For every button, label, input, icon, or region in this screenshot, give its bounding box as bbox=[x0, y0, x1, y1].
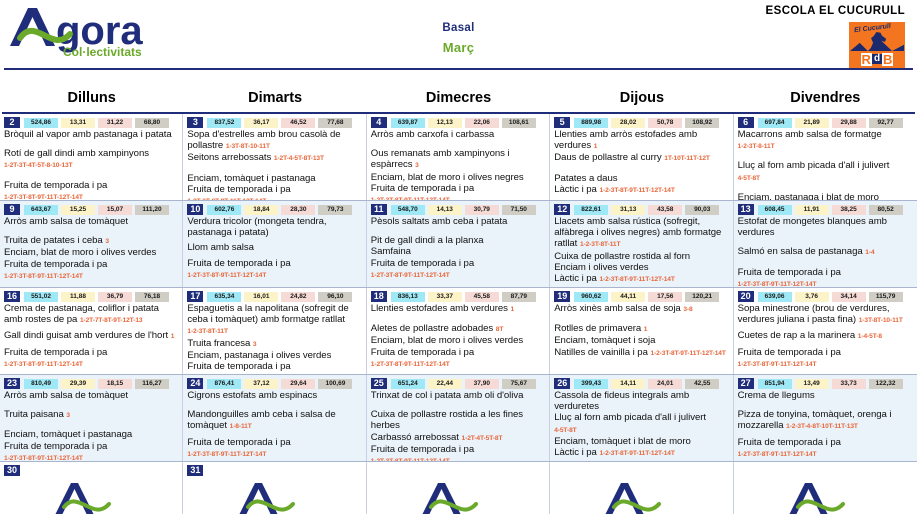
allergen-codes: 1 bbox=[644, 326, 648, 333]
dish-spacer bbox=[371, 315, 545, 323]
day-cell-4[interactable]: 4639,8712,1322,06108,61Arròs amb carxofa… bbox=[367, 114, 550, 200]
day-cell-31[interactable]: 31 bbox=[183, 462, 366, 514]
nutrition-value-2: 18,15 bbox=[98, 379, 132, 389]
nutrition-badges: 551,0211,8836,7976,18 bbox=[24, 292, 169, 302]
day-cell-header: 12822,6131,1343,5890,03 bbox=[554, 204, 728, 215]
nutrition-value-3: 96,10 bbox=[318, 292, 352, 302]
school-name: ESCOLA EL CUCURULL bbox=[766, 5, 905, 17]
school-logo-b: B bbox=[882, 53, 893, 66]
nutrition-badges: 697,8421,8929,8892,77 bbox=[758, 118, 903, 128]
day-cell-30[interactable]: 30 bbox=[0, 462, 183, 514]
menu-dish: Truita de patates i ceba 3 bbox=[4, 235, 178, 247]
day-cell-header: 16551,0211,8836,7976,18 bbox=[4, 291, 178, 302]
dish-text: Cuetes de rap a la marinera bbox=[738, 330, 856, 341]
dish-text: Enciam i olives verdes bbox=[554, 262, 648, 273]
menu-dish: Sopa minestrone (brou de verdures, verdu… bbox=[738, 303, 913, 326]
nutrition-badges: 836,1333,3745,5887,79 bbox=[391, 292, 536, 302]
menu-dish: Fruita de temporada i pa 1-2T-3T-8T-9T-1… bbox=[738, 267, 913, 287]
dish-text: Macarrons amb salsa de formatge bbox=[738, 129, 882, 140]
nutrition-value-0: 651,24 bbox=[391, 379, 425, 389]
menu-dish: Arròs amb salsa de tomàquet bbox=[4, 216, 178, 227]
nutrition-value-3: 79,73 bbox=[318, 205, 352, 215]
nutrition-value-2: 38,25 bbox=[832, 205, 866, 215]
menu-dish: Lluç al forn amb picada d'all i julivert… bbox=[738, 160, 913, 183]
nutrition-value-2: 24,82 bbox=[281, 292, 315, 302]
menu-dish: Fruita de temporada i pa 1-2T-3T-8T-9T-1… bbox=[187, 184, 361, 200]
dish-text: Fruita de temporada i pa bbox=[187, 184, 290, 195]
allergen-codes: 1 bbox=[511, 306, 515, 313]
nutrition-badges: 608,4511,9138,2580,52 bbox=[758, 205, 903, 215]
allergen-codes: 1-2-3T-8T-9T-11T-12T-14T bbox=[599, 187, 674, 194]
allergen-codes: 3 bbox=[415, 162, 419, 169]
menu-dish: Macarrons amb salsa de formatge 1-2-3T-8… bbox=[738, 129, 913, 152]
nutrition-value-2: 43,58 bbox=[648, 205, 682, 215]
dish-spacer bbox=[4, 227, 178, 235]
dish-text: Fruita de temporada i pa bbox=[4, 180, 107, 191]
nutrition-value-0: 697,84 bbox=[758, 118, 792, 128]
day-cell-header: 20639,063,7634,14115,79 bbox=[738, 291, 913, 302]
nutrition-value-2: 33,73 bbox=[832, 379, 866, 389]
dish-spacer bbox=[187, 401, 361, 409]
nutrition-badges: 524,8613,3131,2268,80 bbox=[24, 118, 169, 128]
allergen-codes: 1-2-3T-4-8T-10T-11T-13T bbox=[786, 423, 858, 430]
calendar-week: 23810,4929,3918,15116,27Arròs amb salsa … bbox=[0, 375, 917, 462]
dish-text: Enciam, tomàquet i pastanaga bbox=[4, 429, 132, 440]
allergen-codes: 1-2T-3T-8T-9T-11T-12T-14T bbox=[738, 281, 817, 287]
day-number: 11 bbox=[371, 204, 387, 215]
calendar-grid: 2524,8613,3131,2268,80Bròquil al vapor a… bbox=[0, 114, 917, 514]
menu-dish: Arròs amb carxofa i carbassa bbox=[371, 129, 545, 140]
nutrition-value-3: 77,68 bbox=[318, 118, 352, 128]
dish-spacer bbox=[738, 152, 913, 160]
day-number: 17 bbox=[187, 291, 203, 302]
day-cell-10[interactable]: 10602,7618,8428,3079,73Verdura tricolor … bbox=[183, 201, 366, 287]
menu-dish: Làctic i pa 1-2-3T-8T-9T-11T-12T-14T bbox=[554, 273, 728, 285]
school-logo-rdb: RdB bbox=[850, 51, 904, 67]
allergen-codes: 1-2T-3T-4T-5T-8-10-13T bbox=[4, 162, 73, 169]
nutrition-badges: 876,4137,1229,64100,69 bbox=[207, 379, 352, 389]
nutrition-value-1: 11,91 bbox=[795, 205, 829, 215]
agora-footer-logo bbox=[49, 478, 133, 514]
nutrition-value-0: 889,98 bbox=[574, 118, 608, 128]
day-cell-19[interactable]: 19960,6244,1117,56120,21Arròs xinès amb … bbox=[550, 288, 733, 374]
nutrition-value-1: 21,89 bbox=[795, 118, 829, 128]
dish-text: Gall dindi guisat amb verdures de l'hort bbox=[4, 330, 168, 341]
dish-text: Truita paisana bbox=[4, 409, 64, 420]
day-cell-header: 9643,6715,2515,07111,20 bbox=[4, 204, 178, 215]
menu-dish: Cassola de fideus integrals amb verduret… bbox=[554, 390, 728, 412]
nutrition-value-3: 92,77 bbox=[869, 118, 903, 128]
dish-text: Aletes de pollastre adobades bbox=[371, 323, 493, 334]
menu-dish: Fruita de temporada i pa 1-2T-3T-8T-9T-1… bbox=[738, 347, 913, 370]
allergen-codes: 1-2-3T-8T-9T-11T-12T-14T bbox=[650, 350, 725, 357]
nutrition-value-3: 80,52 bbox=[869, 205, 903, 215]
day-cell-6[interactable]: 6697,8421,8929,8892,77Macarrons amb sals… bbox=[734, 114, 917, 200]
nutrition-value-0: 810,49 bbox=[24, 379, 58, 389]
menu-dish: Enciam, pastanaga i olives verdes bbox=[187, 350, 361, 361]
nutrition-value-1: 13,49 bbox=[795, 379, 829, 389]
allergen-codes: 1T-10T-11T-12T bbox=[664, 155, 710, 162]
menu-dish: Daus de pollastre al curry 1T-10T-11T-12… bbox=[554, 152, 728, 164]
menu-dish: Rotlles de primavera 1 bbox=[554, 323, 728, 335]
menu-dish: Fruita de temporada i pa 1-2T-3T-8T-9T-1… bbox=[187, 361, 361, 374]
dish-text: Ous remanats amb xampinyons i espàrrecs bbox=[371, 148, 510, 170]
day-number: 30 bbox=[4, 465, 20, 476]
menu-dish: Fruita de temporada i pa 1-2T-3T-8T-9T-1… bbox=[738, 437, 913, 460]
dish-text: Llenties amb arròs estofades amb verdure… bbox=[554, 129, 697, 151]
dish-text: Fruita de temporada i pa bbox=[371, 444, 474, 455]
dish-text: Enciam, tomàquet i pastanaga bbox=[187, 173, 315, 184]
nutrition-value-0: 876,41 bbox=[207, 379, 241, 389]
day-cell-header: 25651,2422,4437,9075,67 bbox=[371, 378, 545, 389]
calendar-week: 2524,8613,3131,2268,80Bròquil al vapor a… bbox=[0, 114, 917, 201]
day-cell-header: 3837,5236,1746,5277,68 bbox=[187, 117, 361, 128]
nutrition-value-2: 36,79 bbox=[98, 292, 132, 302]
dish-text: Carbassó arrebossat bbox=[371, 432, 459, 443]
menu-dish: Fruita de temporada i pa 1-2T-3T-8T-9T-1… bbox=[371, 347, 545, 370]
menu-dish: Pizza de tonyina, tomàquet, orenga i moz… bbox=[738, 409, 913, 432]
allergen-codes: 1-2T-3T-8T-9T-11T-12T-14T bbox=[371, 361, 450, 368]
dish-spacer bbox=[4, 172, 178, 180]
dish-spacer bbox=[187, 165, 361, 173]
dish-text: Llenties estofades amb verdures bbox=[371, 303, 508, 314]
menu-dish: Fruita de temporada i pa 1-2T-3T-8T-9T-1… bbox=[4, 180, 178, 200]
nutrition-value-1: 14,13 bbox=[428, 205, 462, 215]
nutrition-value-3: 71,50 bbox=[502, 205, 536, 215]
menu-dish: Carbassó arrebossat 1-2T-4T-5T-8T bbox=[371, 432, 545, 444]
school-logo-d: d bbox=[872, 54, 882, 64]
nutrition-value-3: 87,79 bbox=[502, 292, 536, 302]
nutrition-value-2: 31,22 bbox=[98, 118, 132, 128]
day-cell-13[interactable]: 13608,4511,9138,2580,52Estofat de monget… bbox=[734, 201, 917, 287]
nutrition-value-2: 34,14 bbox=[832, 292, 866, 302]
allergen-codes: 1-2T-3T-8T-9T-11T-12T-14T bbox=[187, 451, 266, 458]
dish-spacer bbox=[554, 315, 728, 323]
nutrition-value-1: 13,31 bbox=[61, 118, 95, 128]
nutrition-value-0: 643,67 bbox=[24, 205, 58, 215]
allergen-codes: 1-2T-3T-8T-9T-11T-12T-14T bbox=[4, 455, 83, 461]
dish-text: Fruita de temporada i pa bbox=[738, 267, 841, 278]
day-cell-empty[interactable] bbox=[550, 462, 733, 514]
dish-text: Fruita de temporada i pa bbox=[4, 259, 107, 270]
nutrition-value-2: 45,58 bbox=[465, 292, 499, 302]
menu-dish: Enciam, tomàquet i blat de moro bbox=[554, 436, 728, 447]
dish-spacer bbox=[738, 259, 913, 267]
day-cell-header: 19960,6244,1117,56120,21 bbox=[554, 291, 728, 302]
dish-text: Arròs xinès amb salsa de soja bbox=[554, 303, 681, 314]
menu-dish: Bròquil al vapor amb pastanaga i patata bbox=[4, 129, 178, 140]
day-cell-header: 24876,4137,1229,64100,69 bbox=[187, 378, 361, 389]
menu-dish: Crema de pastanaga, coliflor i patata am… bbox=[4, 303, 178, 326]
dish-spacer bbox=[738, 401, 913, 409]
menu-dish: Enciam, blat de moro i olives verdes bbox=[4, 247, 178, 258]
day-cell-empty[interactable] bbox=[367, 462, 550, 514]
dish-text: Làctic i pa bbox=[554, 447, 597, 458]
day-cell-25[interactable]: 25651,2422,4437,9075,67Trinxat de col i … bbox=[367, 375, 550, 461]
dish-text: Bròquil al vapor amb pastanaga i patata bbox=[4, 129, 172, 140]
menu-dish: Pit de gall dindi a la planxa bbox=[371, 235, 545, 246]
dish-text: Fruita de temporada i pa bbox=[187, 437, 290, 448]
day-cell-header: 26399,4314,1124,0142,55 bbox=[554, 378, 728, 389]
menu-dish: Gall dindi guisat amb verdures de l'hort… bbox=[4, 330, 178, 342]
menu-dish: Truita paisana 3 bbox=[4, 409, 178, 421]
day-number: 9 bbox=[4, 204, 20, 215]
dish-text: Verdura tricolor (mongeta tendra, pastan… bbox=[187, 216, 326, 238]
nutrition-value-3: 100,69 bbox=[318, 379, 352, 389]
menu-dish: Crema de llegums bbox=[738, 390, 913, 401]
nutrition-value-2: 46,52 bbox=[281, 118, 315, 128]
menu-dish: Llenties amb arròs estofades amb verdure… bbox=[554, 129, 728, 152]
dish-text: Fruita de temporada i pa bbox=[4, 347, 107, 358]
dish-text: Salmó en salsa de pastanaga bbox=[738, 246, 863, 257]
menu-dish: Estofat de mongetes blanques amb verdure… bbox=[738, 216, 913, 238]
menu-dish: Pèsols saltats amb ceba i patata bbox=[371, 216, 545, 227]
day-header-row: Dilluns Dimarts Dimecres Dijous Divendre… bbox=[0, 84, 917, 112]
day-cell-27[interactable]: 27851,9413,4933,73122,32Crema de llegums… bbox=[734, 375, 917, 461]
day-header-dilluns: Dilluns bbox=[0, 84, 183, 112]
day-cell-18[interactable]: 18836,1333,3745,5887,79Llenties estofade… bbox=[367, 288, 550, 374]
allergen-codes: 1-2T-3T-8T-9T-11T-12T-14T bbox=[371, 197, 450, 200]
calendar-week: 9643,6715,2515,07111,20Arròs amb salsa d… bbox=[0, 201, 917, 288]
nutrition-badges: 639,8712,1322,06108,61 bbox=[391, 118, 536, 128]
menu-dish: Fruita de temporada i pa 1-2T-3T-8T-9T-1… bbox=[4, 441, 178, 461]
dish-text: Enciam, pastanaga i olives verdes bbox=[187, 350, 331, 361]
nutrition-badges: 889,9828,0250,78108,92 bbox=[574, 118, 719, 128]
allergen-codes: 1-2-3T-8T-11T bbox=[580, 241, 620, 248]
school-logo: El Cucurull RdB bbox=[849, 22, 905, 68]
day-cell-3[interactable]: 3837,5236,1746,5277,68Sopa d'estrelles a… bbox=[183, 114, 366, 200]
nutrition-value-0: 608,45 bbox=[758, 205, 792, 215]
dish-text: Enciam, tomàquet i blat de moro bbox=[554, 436, 691, 447]
menu-dish: Cigrons estofats amb espinacs bbox=[187, 390, 361, 401]
nutrition-value-1: 28,02 bbox=[611, 118, 645, 128]
calendar-week: 3031 bbox=[0, 462, 917, 514]
dish-text: Fruita de temporada i pa bbox=[371, 258, 474, 269]
nutrition-value-1: 37,12 bbox=[244, 379, 278, 389]
day-number: 24 bbox=[187, 378, 203, 389]
day-number: 31 bbox=[187, 465, 203, 476]
allergen-codes: 8T bbox=[496, 326, 504, 333]
nutrition-value-3: 116,27 bbox=[135, 379, 169, 389]
allergen-codes: 1-2T-4T-5T-8T bbox=[462, 435, 503, 442]
allergen-codes: 1-4-5T-8 bbox=[858, 333, 882, 340]
day-header-dimecres: Dimecres bbox=[367, 84, 550, 112]
day-cell-header: 23810,4929,3918,15116,27 bbox=[4, 378, 178, 389]
day-number: 13 bbox=[738, 204, 754, 215]
allergen-codes: 4-5T-8T bbox=[738, 175, 760, 182]
nutrition-value-0: 548,70 bbox=[391, 205, 425, 215]
menu-page: gora Col·lectivitats Basal Març ESCOLA E… bbox=[0, 0, 917, 514]
nutrition-badges: 822,6131,1343,5890,03 bbox=[574, 205, 719, 215]
dish-spacer bbox=[4, 421, 178, 429]
page-header: gora Col·lectivitats Basal Març ESCOLA E… bbox=[0, 0, 917, 84]
menu-dish: Fruita de temporada i pa 1-2T-3T-8T-9T-1… bbox=[187, 437, 361, 460]
nutrition-value-0: 822,61 bbox=[574, 205, 608, 215]
nutrition-value-0: 960,62 bbox=[574, 292, 608, 302]
nutrition-value-1: 36,17 bbox=[244, 118, 278, 128]
dish-spacer bbox=[4, 140, 178, 148]
day-number: 4 bbox=[371, 117, 387, 128]
dish-text: Mandonguilles amb ceba i salsa de tomàqu… bbox=[187, 409, 335, 431]
allergen-codes: 1 bbox=[171, 333, 175, 340]
day-number: 16 bbox=[4, 291, 20, 302]
menu-dish: Rotí de gall dindi amb xampinyons 1-2T-3… bbox=[4, 148, 178, 171]
dish-spacer bbox=[738, 184, 913, 192]
nutrition-value-1: 11,88 bbox=[61, 292, 95, 302]
menu-dish: Llom amb salsa bbox=[187, 242, 361, 253]
allergen-codes: 3 bbox=[253, 341, 257, 348]
day-number: 25 bbox=[371, 378, 387, 389]
dish-text: Llom amb salsa bbox=[187, 242, 254, 253]
menu-dish: Enciam i olives verdes bbox=[554, 262, 728, 273]
menu-dish: Enciam, blat de moro i olives verdes bbox=[371, 335, 545, 346]
dish-text: Arròs amb salsa de tomàquet bbox=[4, 390, 128, 401]
day-cell-header: 13608,4511,9138,2580,52 bbox=[738, 204, 913, 215]
menu-dish: Llacets amb salsa rústica (sofregit, alf… bbox=[554, 216, 728, 251]
allergen-codes: 3 bbox=[66, 412, 70, 419]
nutrition-value-2: 28,30 bbox=[281, 205, 315, 215]
menu-dish: Cuixa de pollastre rostida al forn bbox=[554, 251, 728, 262]
day-header-divendres: Divendres bbox=[734, 84, 917, 112]
nutrition-value-0: 639,87 bbox=[391, 118, 425, 128]
menu-dish: Cuetes de rap a la marinera 1-4-5T-8 bbox=[738, 330, 913, 342]
nutrition-value-3: 108,92 bbox=[685, 118, 719, 128]
day-number: 2 bbox=[4, 117, 20, 128]
day-cell-header: 27851,9413,4933,73122,32 bbox=[738, 378, 913, 389]
dish-text: Enciam, blat de moro i olives verdes bbox=[371, 335, 523, 346]
nutrition-badges: 602,7618,8428,3079,73 bbox=[207, 205, 352, 215]
day-cell-header: 31 bbox=[187, 465, 361, 476]
allergen-codes: 1-2T-3T-8T-9T-11T-12T-14T bbox=[4, 194, 83, 200]
menu-dish: Patates a daus bbox=[554, 173, 728, 184]
nutrition-value-1: 29,39 bbox=[61, 379, 95, 389]
allergen-codes: 1-2T-3T-8T-9T-11T-12T-14T bbox=[738, 361, 817, 368]
nutrition-value-1: 16,01 bbox=[244, 292, 278, 302]
dish-text: Espaguetis a la napolitana (sofregit de … bbox=[187, 303, 348, 325]
nutrition-badges: 837,5236,1746,5277,68 bbox=[207, 118, 352, 128]
day-cell-2[interactable]: 2524,8613,3131,2268,80Bròquil al vapor a… bbox=[0, 114, 183, 200]
day-cell-12[interactable]: 12822,6131,1343,5890,03Llacets amb salsa… bbox=[550, 201, 733, 287]
nutrition-value-0: 399,43 bbox=[574, 379, 608, 389]
menu-dish: Fruita de temporada i pa 1-2T-3T-8T-9T-1… bbox=[371, 183, 545, 200]
dish-text: Lluç al forn amb picada d'all i julivert bbox=[554, 412, 706, 423]
allergen-codes: 1-8-11T bbox=[230, 423, 252, 430]
day-cell-16[interactable]: 16551,0211,8836,7976,18Crema de pastanag… bbox=[0, 288, 183, 374]
menu-dish: Espaguetis a la napolitana (sofregit de … bbox=[187, 303, 361, 338]
dish-text: Patates a daus bbox=[554, 173, 617, 184]
menu-dish: Aletes de pollastre adobades 8T bbox=[371, 323, 545, 335]
dish-text: Cuixa de pollastre rostida al forn bbox=[554, 251, 690, 262]
day-cell-empty[interactable] bbox=[734, 462, 917, 514]
school-logo-word: El Cucurull bbox=[854, 23, 892, 34]
dish-text: Fruita de temporada i pa bbox=[371, 183, 474, 194]
day-cell-11[interactable]: 11548,7014,1330,7971,50Pèsols saltats am… bbox=[367, 201, 550, 287]
dish-text: Cuixa de pollastre rostida a les fines h… bbox=[371, 409, 523, 431]
menu-dish: Verdura tricolor (mongeta tendra, pastan… bbox=[187, 216, 361, 238]
calendar-week: 16551,0211,8836,7976,18Crema de pastanag… bbox=[0, 288, 917, 375]
dish-text: Arròs amb carxofa i carbassa bbox=[371, 129, 494, 140]
nutrition-value-1: 12,13 bbox=[428, 118, 462, 128]
day-cell-17[interactable]: 17635,3416,0124,8296,10Espaguetis a la n… bbox=[183, 288, 366, 374]
dish-text: Rotí de gall dindi amb xampinyons bbox=[4, 148, 149, 159]
day-cell-9[interactable]: 9643,6715,2515,07111,20Arròs amb salsa d… bbox=[0, 201, 183, 287]
allergen-codes: 1-2T-3T-8T-9T-11T-12T-14T bbox=[371, 458, 450, 461]
nutrition-value-3: 76,18 bbox=[135, 292, 169, 302]
nutrition-value-1: 44,11 bbox=[611, 292, 645, 302]
allergen-codes: 1-2T-3T-8T-9T-11T-12T-14T bbox=[371, 272, 450, 279]
allergen-codes: 1-2T-3T-8T-9T-11T-12T-14T bbox=[4, 273, 83, 280]
nutrition-badges: 639,063,7634,14115,79 bbox=[758, 292, 903, 302]
day-number: 5 bbox=[554, 117, 570, 128]
nutrition-value-3: 122,32 bbox=[869, 379, 903, 389]
day-cell-header: 5889,9828,0250,78108,92 bbox=[554, 117, 728, 128]
day-cell-header: 18836,1333,3745,5887,79 bbox=[371, 291, 545, 302]
allergen-codes: 1-2T-4-5T-8T-13T bbox=[274, 155, 324, 162]
brand-subtitle: Col·lectivitats bbox=[63, 45, 142, 58]
dish-spacer bbox=[738, 238, 913, 246]
dish-text: Trinxat de col i patata amb oli d'oliva bbox=[371, 390, 524, 401]
agora-footer-logo bbox=[233, 478, 317, 514]
nutrition-value-0: 635,34 bbox=[207, 292, 241, 302]
day-number: 6 bbox=[738, 117, 754, 128]
dish-text: Cassola de fideus integrals amb verduret… bbox=[554, 390, 689, 412]
nutrition-value-1: 18,84 bbox=[244, 205, 278, 215]
allergen-codes: 1-2T-3T-8T-9T-11T-12T-14T bbox=[4, 361, 83, 368]
day-cell-24[interactable]: 24876,4137,1229,64100,69Cigrons estofats… bbox=[183, 375, 366, 461]
dish-text: Fruita de temporada i pa bbox=[738, 347, 841, 358]
nutrition-value-3: 68,80 bbox=[135, 118, 169, 128]
allergen-codes: 1-2-3T-8T-9T-11T-12T-14T bbox=[599, 276, 674, 283]
allergen-codes: 1-2-3T-8-11T bbox=[738, 143, 775, 150]
school-logo-r: R bbox=[861, 53, 872, 66]
allergen-codes: 1-2T-3T-8T-9T-11T-12T-14T bbox=[738, 451, 817, 458]
dish-text: Estofat de mongetes blanques amb verdure… bbox=[738, 216, 887, 238]
nutrition-badges: 960,6244,1117,56120,21 bbox=[574, 292, 719, 302]
dish-text: Enciam, blat de moro i olives negres bbox=[371, 172, 524, 183]
menu-dish: Seitons arrebossats 1-2T-4-5T-8T-13T bbox=[187, 152, 361, 164]
day-cell-20[interactable]: 20639,063,7634,14115,79Sopa minestrone (… bbox=[734, 288, 917, 374]
day-number: 3 bbox=[187, 117, 203, 128]
menu-dish: Fruita de temporada i pa 1-2T-3T-8T-9T-1… bbox=[187, 258, 361, 281]
nutrition-value-2: 29,88 bbox=[832, 118, 866, 128]
menu-dish: Truita francesa 3 bbox=[187, 338, 361, 350]
day-cell-header: 30 bbox=[4, 465, 178, 476]
agora-footer-logo bbox=[783, 478, 867, 514]
nutrition-value-1: 31,13 bbox=[611, 205, 645, 215]
menu-dish: Enciam, pastanaga i blat de moro bbox=[738, 192, 913, 200]
nutrition-value-3: 42,55 bbox=[685, 379, 719, 389]
day-cell-26[interactable]: 26399,4314,1124,0142,55Cassola de fideus… bbox=[550, 375, 733, 461]
allergen-codes: 1 bbox=[594, 143, 598, 150]
nutrition-value-2: 30,79 bbox=[465, 205, 499, 215]
allergen-codes: 4-5T-8T bbox=[554, 427, 576, 434]
nutrition-value-1: 15,25 bbox=[61, 205, 95, 215]
nutrition-value-3: 90,03 bbox=[685, 205, 719, 215]
day-cell-23[interactable]: 23810,4929,3918,15116,27Arròs amb salsa … bbox=[0, 375, 183, 461]
nutrition-value-2: 22,06 bbox=[465, 118, 499, 128]
day-cell-5[interactable]: 5889,9828,0250,78108,92Llenties amb arrò… bbox=[550, 114, 733, 200]
dish-text: Fruita de temporada i pa bbox=[4, 441, 107, 452]
menu-dish: Fruita de temporada i pa 1-2T-3T-8T-9T-1… bbox=[371, 444, 545, 461]
nutrition-badges: 810,4929,3918,15116,27 bbox=[24, 379, 169, 389]
dish-text: Pit de gall dindi a la planxa bbox=[371, 235, 484, 246]
nutrition-value-0: 551,02 bbox=[24, 292, 58, 302]
day-number: 18 bbox=[371, 291, 387, 302]
allergen-codes: 1-4 bbox=[865, 249, 874, 256]
menu-dish: Fruita de temporada i pa 1-2T-3T-8T-9T-1… bbox=[4, 259, 178, 282]
agora-logo: gora Col·lectivitats bbox=[6, 2, 166, 58]
nutrition-value-2: 17,56 bbox=[648, 292, 682, 302]
